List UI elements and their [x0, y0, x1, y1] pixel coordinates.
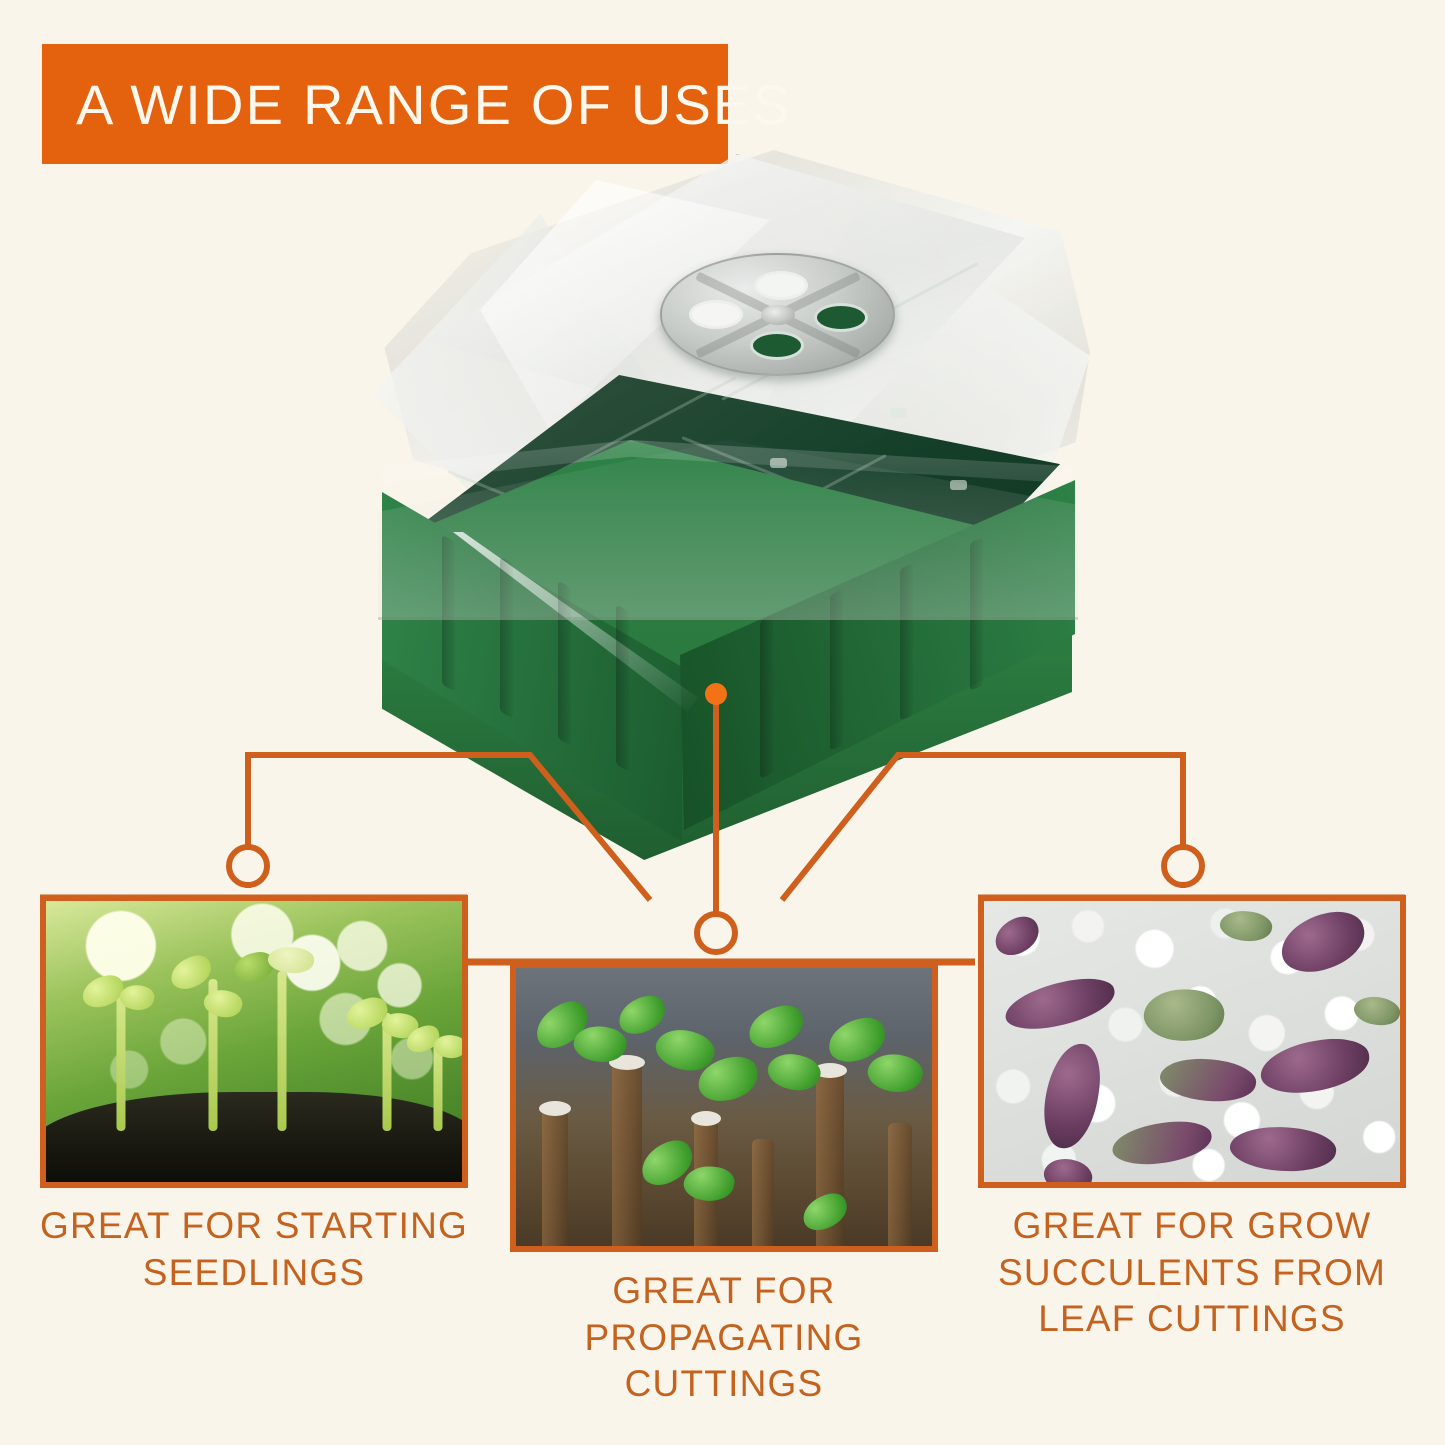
photo-succulents[interactable] — [978, 895, 1406, 1188]
stem-cutting — [542, 1107, 568, 1252]
callout-node-right[interactable] — [1164, 847, 1202, 885]
sprout-stem — [278, 971, 287, 1131]
caption-seedlings: GREAT FOR STARTING SEEDLINGS — [22, 1203, 486, 1296]
caption-cuttings: GREAT FOR PROPAGATING CUTTINGS — [488, 1268, 960, 1408]
photo-seedlings[interactable] — [40, 895, 468, 1188]
sprout-stem — [117, 991, 126, 1131]
infographic-page: A WIDE RANGE OF USES — [0, 0, 1445, 1445]
seedling-sprout — [242, 945, 322, 1131]
callout-node-center[interactable] — [697, 914, 735, 952]
product-anchor-dot — [705, 683, 727, 705]
seedling-sprout — [408, 1023, 468, 1131]
seedling-sprout — [86, 971, 156, 1131]
connector-right — [782, 755, 1183, 900]
cut-end — [539, 1101, 571, 1116]
sprout-leaf — [266, 944, 315, 976]
connector-left — [248, 755, 650, 900]
stem-cutting — [612, 1061, 642, 1252]
seedling-sprout — [176, 956, 250, 1131]
stem-cutting — [752, 1139, 774, 1252]
caption-succulents: GREAT FOR GROW SUCCULENTS FROM LEAF CUTT… — [964, 1203, 1420, 1343]
cut-end — [691, 1111, 721, 1126]
stem-cutting — [888, 1123, 912, 1252]
callout-node-left[interactable] — [229, 847, 267, 885]
photo-cuttings[interactable] — [510, 962, 938, 1252]
